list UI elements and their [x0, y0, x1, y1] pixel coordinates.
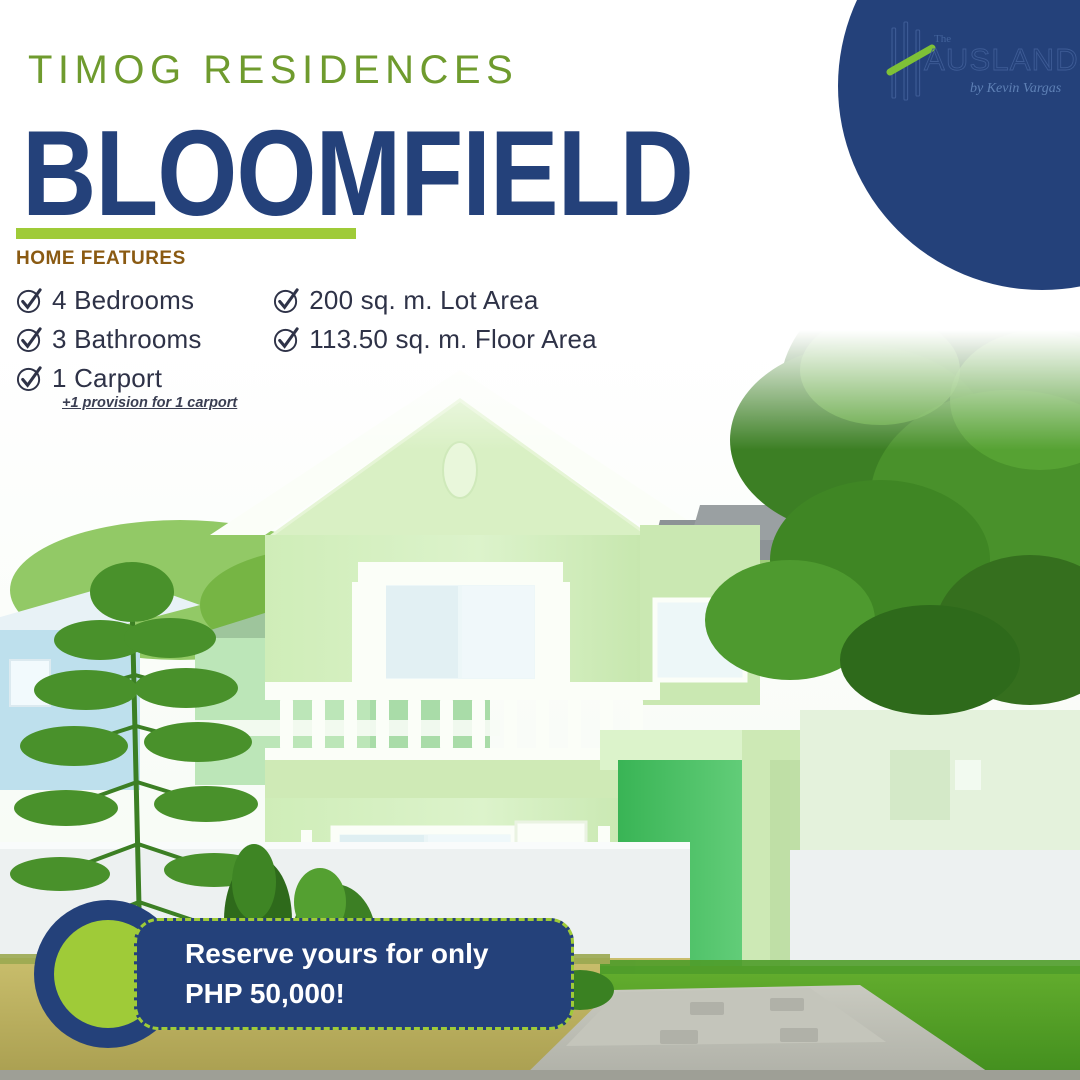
feature-label: 113.50 sq. m. Floor Area — [309, 324, 597, 355]
feature-item: 1 Carport — [16, 360, 237, 397]
feature-item: 4 Bedrooms — [16, 282, 237, 319]
cta-pill[interactable]: Reserve yours for only PHP 50,000! — [134, 918, 574, 1030]
eyebrow-subtitle: TIMOG RESIDENCES — [28, 48, 518, 93]
check-circle-icon — [16, 326, 43, 353]
cta-line-1: Reserve yours for only — [185, 934, 571, 974]
hauslands-logo: The AUSLANDS by Kevin Vargas — [884, 20, 1080, 108]
check-circle-icon — [16, 287, 43, 314]
features-column-right: 200 sq. m. Lot Area 113.50 sq. m. Floor … — [273, 282, 597, 358]
reservation-cta[interactable]: Reserve yours for only PHP 50,000! — [34, 900, 574, 1048]
feature-label: 1 Carport — [52, 363, 162, 394]
feature-item: 113.50 sq. m. Floor Area — [273, 321, 597, 358]
features-column-left: 4 Bedrooms 3 Bathrooms 1 Carport +1 prov… — [16, 282, 237, 411]
features-heading: HOME FEATURES — [16, 248, 597, 270]
page-title: BLOOMFIELD — [22, 104, 693, 243]
feature-label: 4 Bedrooms — [52, 285, 194, 316]
feature-label: 3 Bathrooms — [52, 324, 202, 355]
svg-text:AUSLANDS: AUSLANDS — [924, 42, 1080, 77]
check-circle-icon — [16, 365, 43, 392]
home-features-section: HOME FEATURES 4 Bedrooms 3 Bathrooms — [16, 248, 597, 411]
feature-item: 3 Bathrooms — [16, 321, 237, 358]
check-circle-icon — [273, 287, 300, 314]
cta-line-2: PHP 50,000! — [185, 974, 571, 1014]
feature-label: 200 sq. m. Lot Area — [309, 285, 538, 316]
check-circle-icon — [273, 326, 300, 353]
carport-provision-note: +1 provision for 1 carport — [62, 395, 237, 411]
feature-item: 200 sq. m. Lot Area — [273, 282, 597, 319]
title-underline-bar — [16, 228, 356, 239]
svg-text:by Kevin Vargas: by Kevin Vargas — [970, 81, 1062, 96]
